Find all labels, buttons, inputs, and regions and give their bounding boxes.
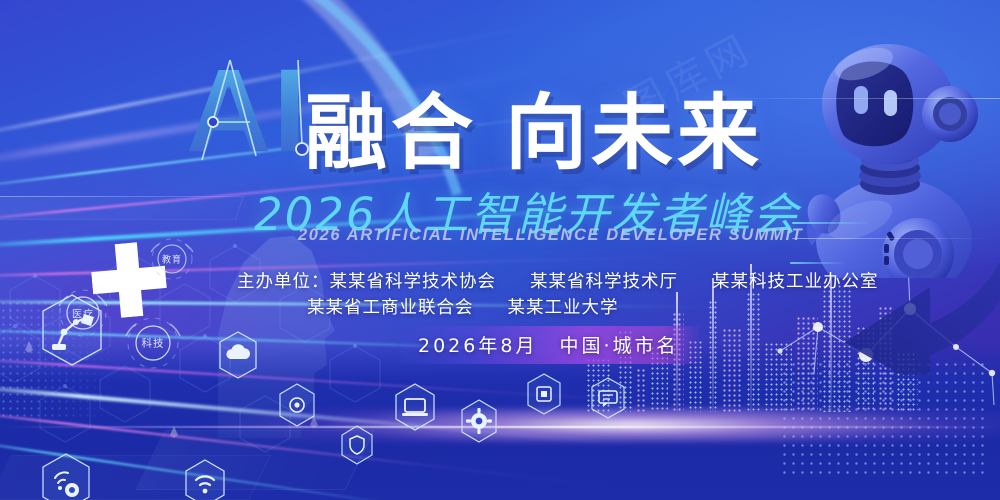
poster-content: AI 融合向未来 2026人工智能开发者峰会 2026 ARTIFICIAL I… — [0, 0, 1000, 500]
organizer-item: 某某省科学技术厅 — [530, 268, 678, 293]
ai-summit-poster: 教育 医疗 科技 — [0, 0, 1000, 500]
page-title: 融合向未来 — [305, 66, 763, 185]
organizer-item: 某某工业大学 — [508, 294, 619, 319]
organizer-label: 主办单位： — [237, 268, 330, 293]
date-location-bar: 2026年8月 中国·城市名 — [396, 326, 700, 364]
organizer-row-2: 某某省工商业联合会某某工业大学 — [307, 294, 619, 319]
organizer-item: 某某省科学技术协会 — [330, 268, 497, 293]
title-part-2: 向未来 — [505, 86, 763, 181]
organizer-row-1: 主办单位：某某省科学技术协会某某省科学技术厅某某科技工业办公室 — [237, 268, 879, 293]
organizer-item: 某某省工商业联合会 — [307, 294, 474, 319]
title-part-1: 融合 — [305, 86, 477, 181]
subtitle-english: 2026 ARTIFICIAL INTELLIGENCE DEVELOPER S… — [298, 226, 803, 245]
organizer-item: 某某科技工业办公室 — [712, 268, 879, 293]
